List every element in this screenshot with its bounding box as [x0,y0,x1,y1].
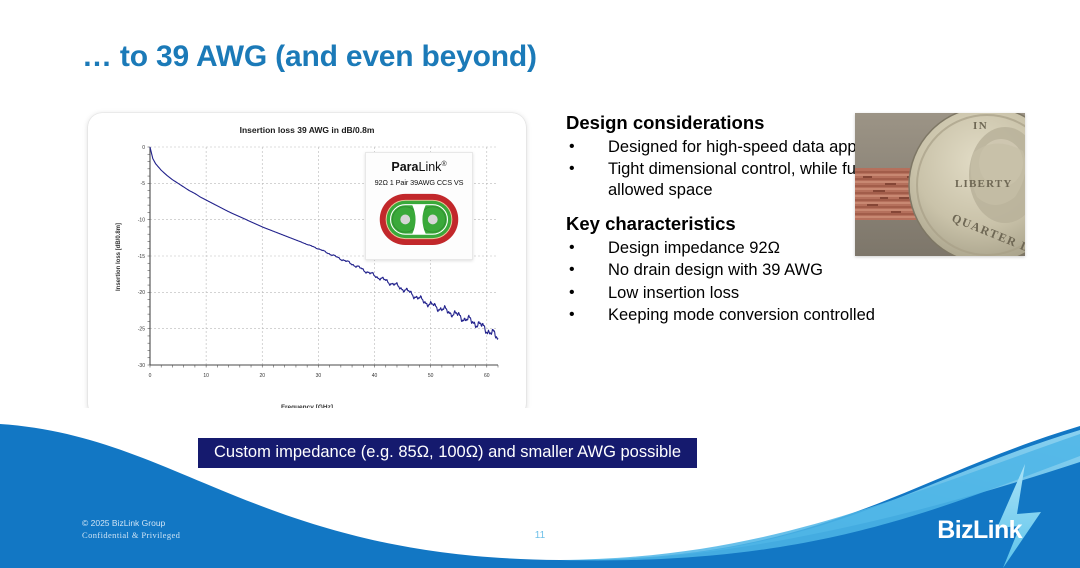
bullet-dot-icon: • [569,137,575,157]
footer-wave-svg [0,408,1080,568]
list-item: •No drain design with 39 AWG [566,260,946,281]
list-item: •Keeping mode conversion controlled [566,305,946,326]
page-number: 11 [0,530,1080,541]
coin-liberty-text: LIBERTY [955,178,1013,190]
svg-text:40: 40 [372,373,378,379]
svg-text:-20: -20 [138,290,145,296]
svg-text:-25: -25 [138,326,145,332]
list-item-label: Design impedance 92Ω [608,239,780,257]
paralink-brand: ParaLink® [366,161,472,174]
bullet-dot-icon: • [569,260,575,280]
bullet-dot-icon: • [569,283,575,303]
list-item-label: Low insertion loss [608,284,739,302]
svg-text:0: 0 [149,373,152,379]
chart-y-axis-label: Insertion loss [dB/0.8m] [116,223,122,291]
svg-text:20: 20 [259,373,265,379]
cable-quarter-illustration: LIBERTY QUARTER DOLL IN [855,113,1025,256]
paralink-brand-bold: Para [391,160,418,174]
paralink-callout: ParaLink® 92Ω 1 Pair 39AWG CCS VS [365,152,473,260]
copyright-line-1: © 2025 BizLink Group [82,517,180,529]
page-title: … to 39 AWG (and even beyond) [82,40,537,74]
footer-wave-graphic [0,408,1080,568]
svg-text:50: 50 [428,373,434,379]
cable-cross-section-icon [366,190,472,249]
paralink-spec: 92Ω 1 Pair 39AWG CCS VS [366,178,472,187]
paralink-brand-light: Link [419,160,442,174]
svg-text:0: 0 [142,145,145,151]
svg-text:60: 60 [484,373,490,379]
bullet-dot-icon: • [569,238,575,258]
list-item: •Low insertion loss [566,283,946,304]
svg-text:10: 10 [203,373,209,379]
list-item-label: No drain design with 39 AWG [608,261,823,279]
coin-in-text: IN [973,120,988,132]
registered-trademark-icon: ® [441,161,446,168]
bullet-dot-icon: • [569,305,575,325]
bullet-dot-icon: • [569,159,575,179]
chart-title: Insertion loss 39 AWG in dB/0.8m [88,125,526,135]
bizlink-logo: BizLink [937,516,1022,545]
slide-canvas: … to 39 AWG (and even beyond) Insertion … [0,0,1080,568]
svg-text:-15: -15 [138,254,145,260]
svg-text:30: 30 [316,373,322,379]
list-item-label: Keeping mode conversion controlled [608,306,875,324]
custom-impedance-banner: Custom impedance (e.g. 85Ω, 100Ω) and sm… [198,438,697,468]
svg-text:-10: -10 [138,217,145,223]
svg-text:-5: -5 [141,181,146,187]
svg-text:-30: -30 [138,363,145,369]
cable-vs-quarter-photo: LIBERTY QUARTER DOLL IN [855,113,1025,256]
